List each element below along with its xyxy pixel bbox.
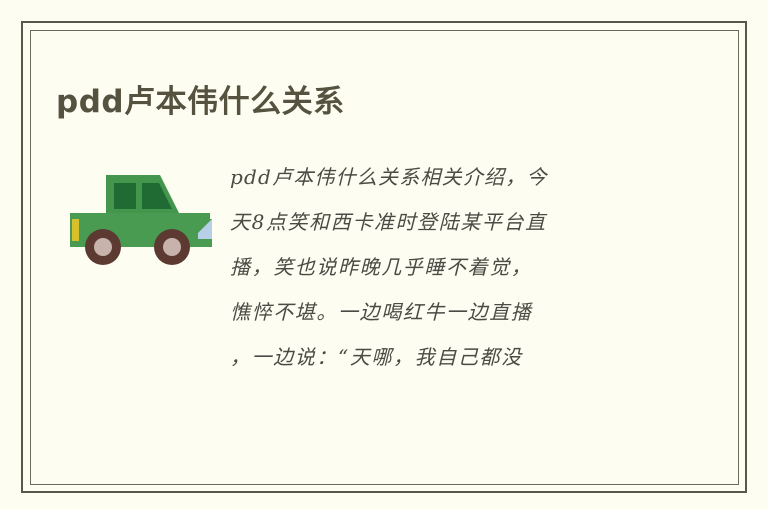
article-line: 播，笑也说昨晚几乎睡不着觉， xyxy=(230,245,652,290)
page-root: pdd卢本伟什么关系 xyxy=(0,0,768,510)
article-line: 天8点笑和西卡准时登陆某平台直 xyxy=(230,200,652,245)
page-content: pdd卢本伟什么关系 xyxy=(0,0,768,510)
article-block: pdd卢本伟什么关系相关介绍，今 天8点笑和西卡准时登陆某平台直 播，笑也说昨晚… xyxy=(56,155,716,415)
truck-illustration xyxy=(62,163,222,273)
article-line: ，一边说：“天哪，我自己都没 xyxy=(230,335,652,380)
article-body-text: pdd卢本伟什么关系相关介绍，今 天8点笑和西卡准时登陆某平台直 播，笑也说昨晚… xyxy=(230,155,652,380)
page-title: pdd卢本伟什么关系 xyxy=(56,82,345,122)
article-line: 憔悴不堪。一边喝红牛一边直播 xyxy=(230,290,652,335)
pickup-truck-icon xyxy=(62,163,222,273)
article-line: pdd卢本伟什么关系相关介绍，今 xyxy=(230,155,652,200)
